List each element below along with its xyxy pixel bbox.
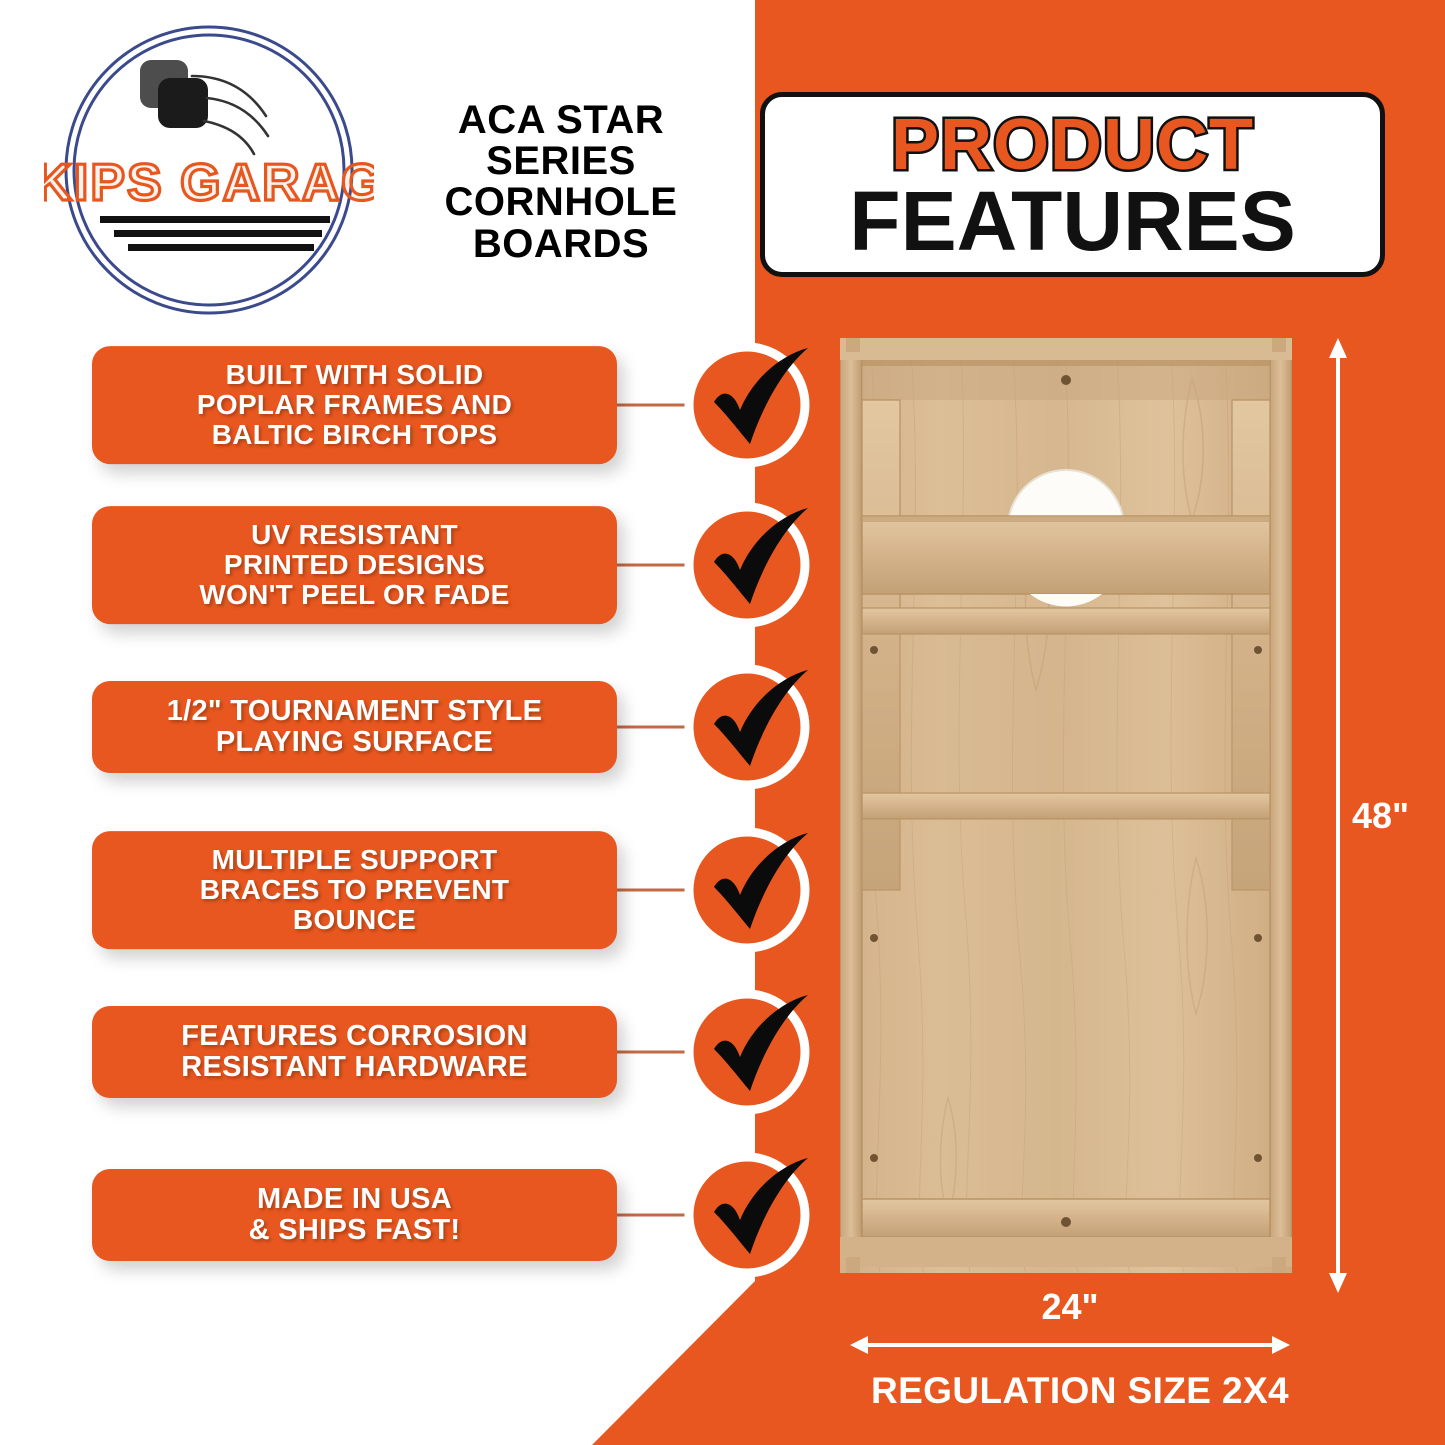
regulation-size-label: REGULATION SIZE 2X4 [830, 1370, 1330, 1412]
skips-garage-logo: SKIPS GARAGE SKIPS GARAGE [44, 18, 374, 328]
checkmark-icon [682, 1150, 812, 1280]
product-features-banner: PRODUCT FEATURES [760, 92, 1385, 277]
feature-pill-made-in-usa: MADE IN USA & SHIPS FAST! [92, 1169, 617, 1261]
feature-row-support-braces: MULTIPLE SUPPORT BRACES TO PREVENT BOUNC… [0, 815, 830, 965]
feature-pill-support-braces: MULTIPLE SUPPORT BRACES TO PREVENT BOUNC… [92, 831, 617, 949]
product-title-line-1: ACA STAR [396, 100, 726, 141]
feature-row-made-in-usa: MADE IN USA & SHIPS FAST! [0, 1140, 830, 1290]
feature-pill-construction: BUILT WITH SOLID POPLAR FRAMES AND BALTI… [92, 346, 617, 464]
feature-label: 1/2" TOURNAMENT STYLE PLAYING SURFACE [106, 696, 603, 758]
product-title-line-2: SERIES [396, 141, 726, 182]
feature-pill-playing-surface: 1/2" TOURNAMENT STYLE PLAYING SURFACE [92, 681, 617, 773]
feature-label: BUILT WITH SOLID POPLAR FRAMES AND BALTI… [106, 360, 603, 450]
product-title: ACA STAR SERIES CORNHOLE BOARDS [396, 100, 726, 265]
product-title-line-4: BOARDS [396, 224, 726, 265]
feature-row-hardware: FEATURES CORROSION RESISTANT HARDWARE [0, 977, 830, 1127]
height-dimension-label: 48" [1352, 795, 1409, 837]
infographic-page: SKIPS GARAGE SKIPS GARAGE ACA STAR SERIE… [0, 0, 1445, 1445]
feature-row-construction: BUILT WITH SOLID POPLAR FRAMES AND BALTI… [0, 330, 830, 480]
checkmark-icon [682, 340, 812, 470]
product-title-line-3: CORNHOLE [396, 182, 726, 223]
feature-row-playing-surface: 1/2" TOURNAMENT STYLE PLAYING SURFACE [0, 652, 830, 802]
svg-text:SKIPS GARAGE: SKIPS GARAGE [44, 154, 374, 212]
feature-label: UV RESISTANT PRINTED DESIGNS WON'T PEEL … [106, 520, 603, 610]
banner-line-features: FEATURES [849, 182, 1295, 262]
feature-label: MADE IN USA & SHIPS FAST! [106, 1184, 603, 1246]
feature-label: FEATURES CORROSION RESISTANT HARDWARE [106, 1021, 603, 1083]
checkmark-icon [682, 500, 812, 630]
checkmark-icon [682, 662, 812, 792]
height-dimension: 48" [1326, 338, 1386, 1293]
feature-pill-hardware: FEATURES CORROSION RESISTANT HARDWARE [92, 1006, 617, 1098]
banner-line-product: PRODUCT [891, 111, 1254, 179]
width-dimension: 24" [850, 1286, 1290, 1356]
cornhole-board-image [840, 338, 1292, 1273]
feature-label: MULTIPLE SUPPORT BRACES TO PREVENT BOUNC… [106, 845, 603, 935]
checkmark-icon [682, 987, 812, 1117]
feature-pill-uv-resistant: UV RESISTANT PRINTED DESIGNS WON'T PEEL … [92, 506, 617, 624]
checkmark-icon [682, 825, 812, 955]
width-dimension-label: 24" [850, 1286, 1290, 1328]
feature-row-uv-resistant: UV RESISTANT PRINTED DESIGNS WON'T PEEL … [0, 490, 830, 640]
